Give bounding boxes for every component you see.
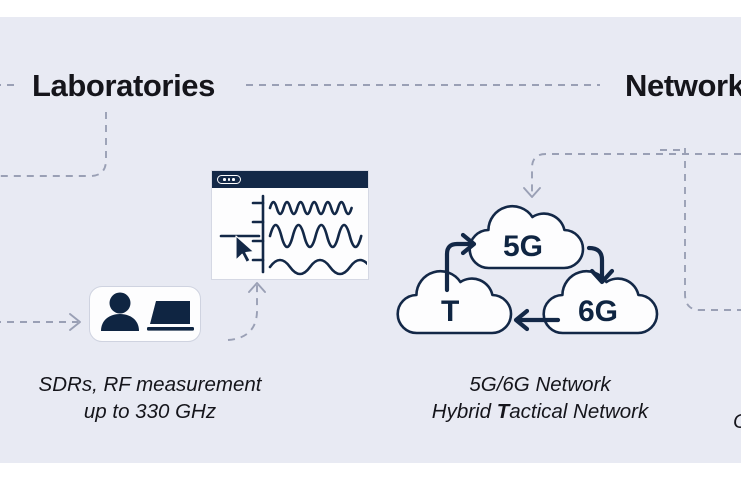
person-laptop-graphic — [90, 287, 198, 339]
caption-network-line2-pre: Hybrid — [432, 400, 497, 423]
waveform-2 — [270, 225, 361, 247]
infographic-canvas: Laboratories Network — [0, 0, 741, 486]
person-icon-body — [101, 314, 139, 331]
waveform-1 — [270, 202, 352, 214]
laptop-icon-screen — [150, 301, 190, 324]
monitor-screen — [212, 189, 367, 279]
caption-laboratories: SDRs, RF measurement up to 330 GHz — [0, 371, 300, 425]
person-icon-head — [110, 293, 131, 314]
caption-network-line2-post: actical Network — [509, 400, 648, 423]
page-title-network: Network — [625, 68, 741, 104]
laptop-icon-base — [147, 327, 194, 331]
clipped-edge-character: C — [733, 410, 741, 434]
caption-network-line2-bold: T — [497, 400, 510, 423]
window-menu-dots-icon[interactable] — [217, 175, 241, 184]
caption-laboratories-line1: SDRs, RF measurement — [0, 371, 300, 398]
caption-network: 5G/6G Network Hybrid Tactical Network — [390, 371, 690, 425]
cloud-label-t: T — [441, 295, 459, 329]
caption-network-line2: Hybrid Tactical Network — [390, 398, 690, 425]
caption-laboratories-line2: up to 330 GHz — [0, 398, 300, 425]
page-title-laboratories: Laboratories — [32, 68, 215, 104]
sdr-operator-card[interactable] — [89, 286, 201, 342]
caption-network-line1: 5G/6G Network — [390, 371, 690, 398]
cloud-label-6g: 6G — [578, 295, 618, 329]
waveform-monitor[interactable] — [211, 170, 369, 280]
cursor-arrow-icon — [236, 236, 254, 262]
monitor-title-bar — [212, 171, 368, 188]
waveform-3 — [270, 260, 367, 274]
cloud-label-5g: 5G — [503, 230, 543, 264]
